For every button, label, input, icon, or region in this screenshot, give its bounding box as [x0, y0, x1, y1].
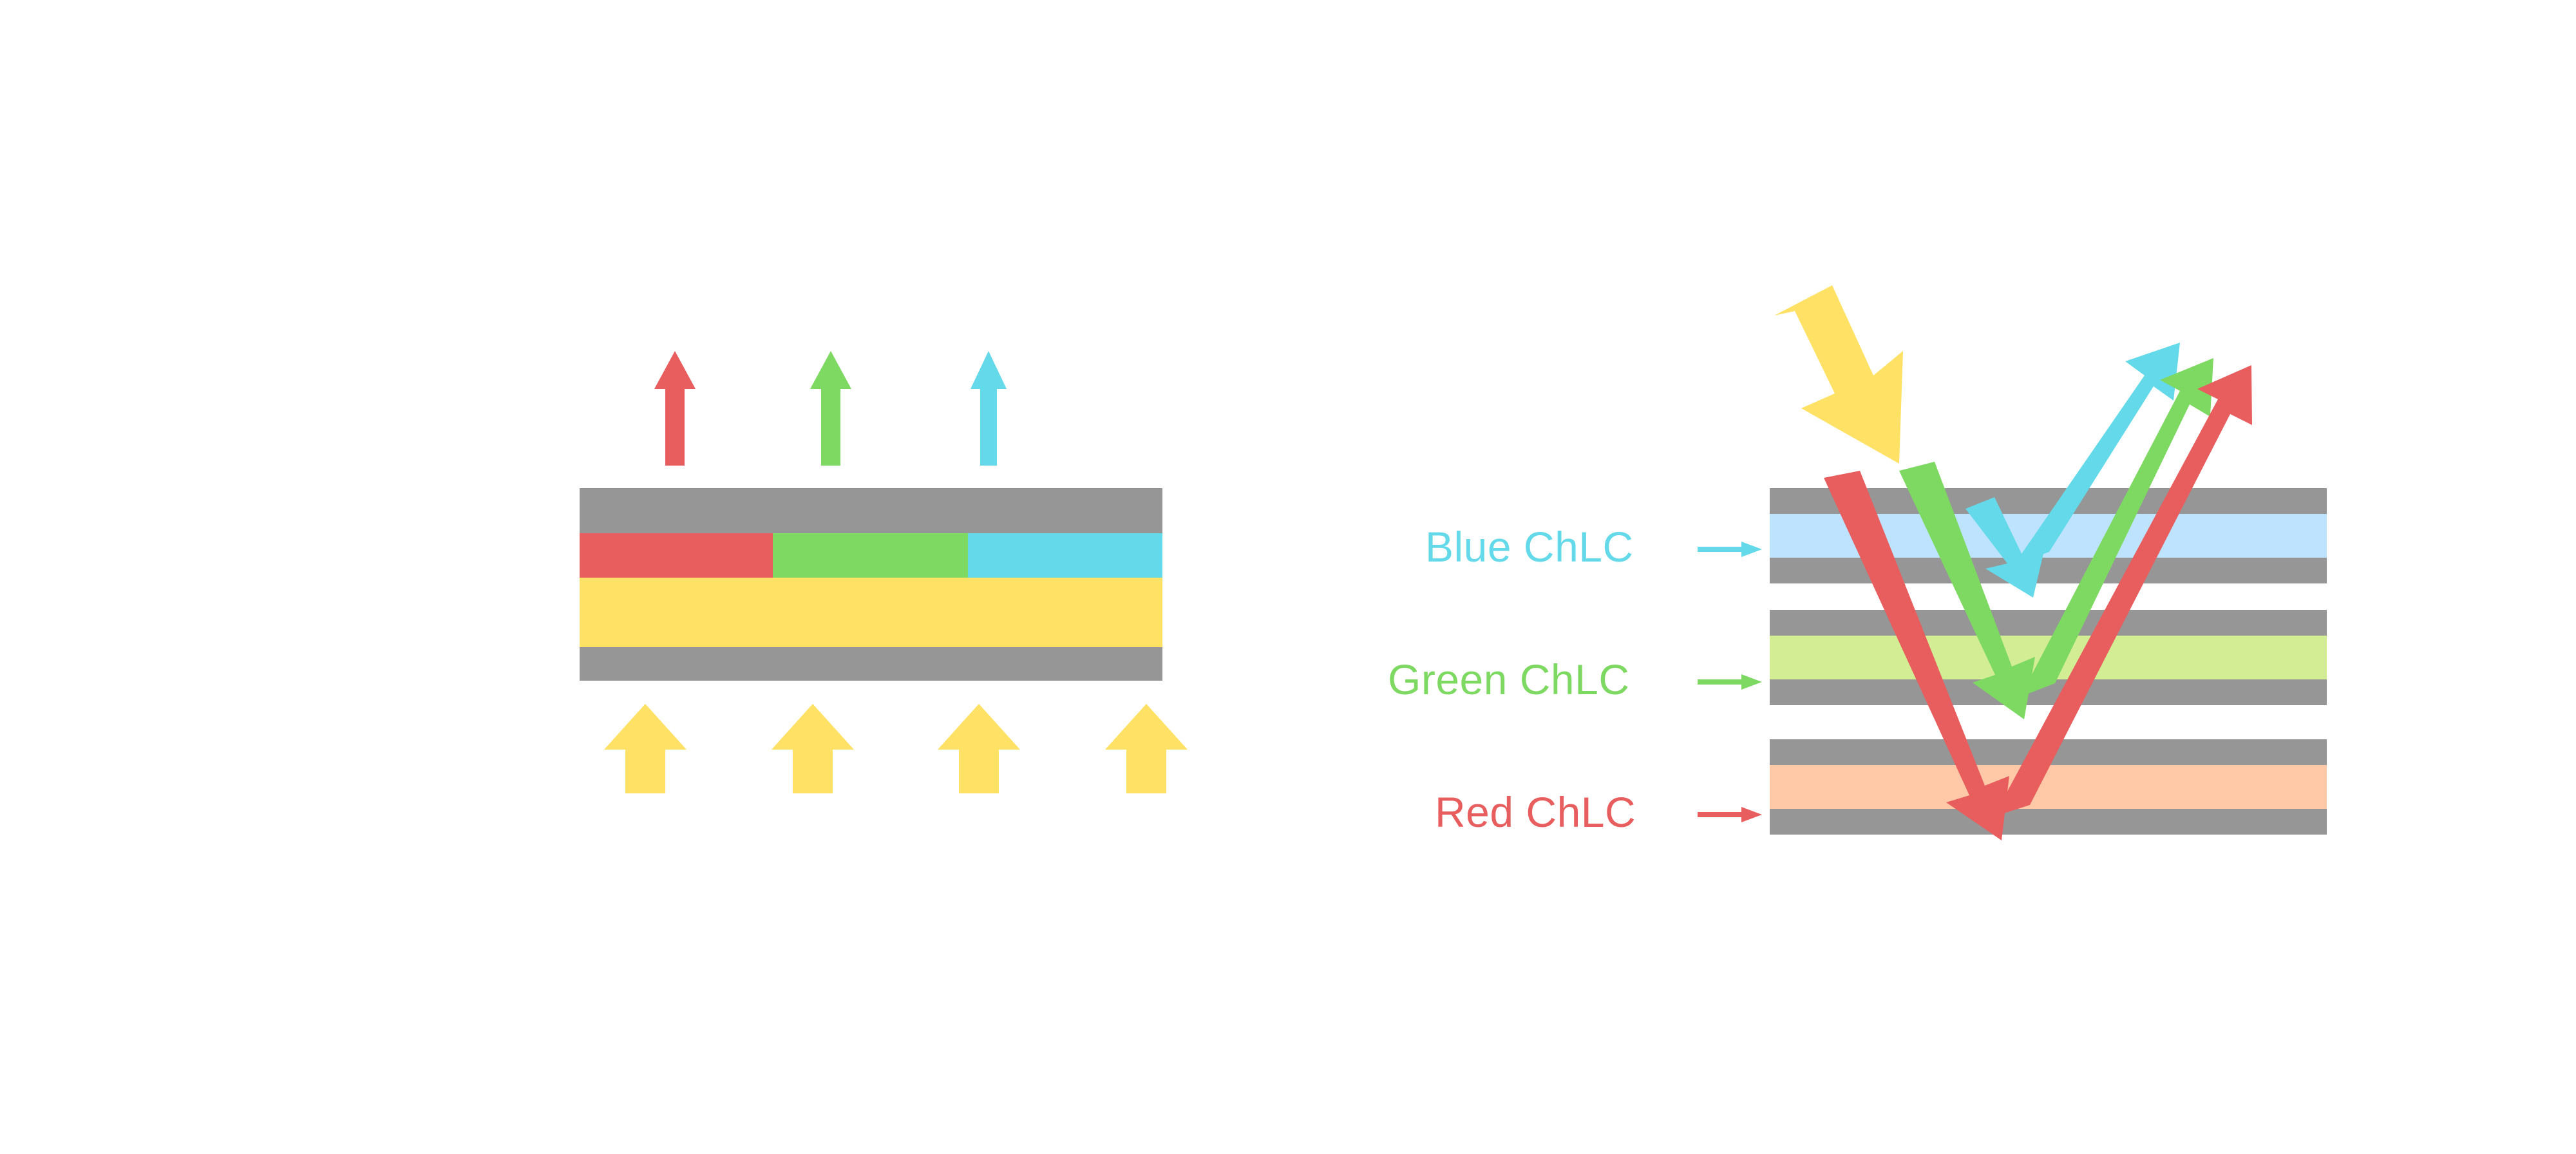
green-label-pointer-icon: [1698, 674, 1762, 690]
blue-label-pointer-icon: [1698, 542, 1762, 557]
red-label-pointer-icon: [1698, 807, 1762, 822]
ambient-white-light-ray: [1774, 285, 1903, 464]
right-panel: Blue ChLC Green ChLC Red ChLC: [0, 0, 2576, 1154]
right-panel-arrows: [0, 0, 2576, 1154]
diagram-canvas: Blue ChLC Green ChLC Red ChLC: [0, 0, 2576, 1154]
